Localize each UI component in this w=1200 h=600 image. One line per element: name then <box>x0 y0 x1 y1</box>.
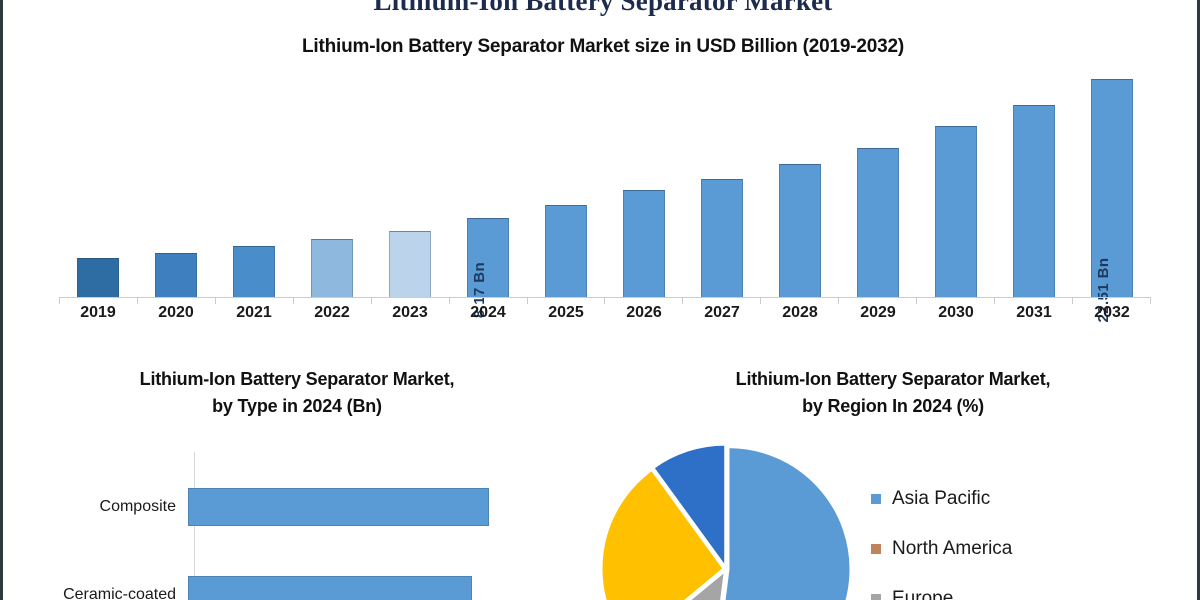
bar-2023[interactable] <box>389 231 431 298</box>
bar-slot <box>761 64 839 298</box>
year-label-2026: 2026 <box>605 304 683 322</box>
market-size-bar-chart: Lithium-Ion Battery Separator Market siz… <box>3 36 1200 336</box>
year-label-2028: 2028 <box>761 304 839 322</box>
bar-slot <box>917 64 995 298</box>
bar-2031[interactable] <box>1013 105 1055 298</box>
legend-label: Europe <box>892 588 953 600</box>
bar-2029[interactable] <box>857 148 899 298</box>
bar-slot <box>371 64 449 298</box>
type-row: Composite <box>3 488 563 526</box>
legend-label: Asia Pacific <box>892 488 990 510</box>
bar-2030[interactable] <box>935 126 977 298</box>
bar-slot <box>293 64 371 298</box>
bar-slot <box>137 64 215 298</box>
region-legend: Asia PacificNorth AmericaEurope <box>871 474 1171 600</box>
bar-slot <box>605 64 683 298</box>
year-label-2024: 2024 <box>449 304 527 322</box>
year-label-2022: 2022 <box>293 304 371 322</box>
legend-label: North America <box>892 538 1012 560</box>
year-label-2025: 2025 <box>527 304 605 322</box>
bar-2024[interactable]: 8.17 Bn <box>467 218 509 298</box>
bar-series: 8.17 Bn22.51 Bn <box>59 64 1151 298</box>
legend-item-europe[interactable]: Europe <box>871 574 1171 600</box>
bar-2027[interactable] <box>701 179 743 298</box>
bar-2021[interactable] <box>233 246 275 298</box>
bar-slot <box>59 64 137 298</box>
pie-svg <box>601 444 851 600</box>
bar-slot <box>527 64 605 298</box>
legend-item-asia-pacific[interactable]: Asia Pacific <box>871 474 1171 524</box>
by-region-pie-chart: Lithium-Ion Battery Separator Market, by… <box>583 366 1200 600</box>
bar-slot <box>839 64 917 298</box>
by-type-plot-area: CompositeCeramic-coated <box>3 452 563 600</box>
type-bar-track <box>188 488 563 526</box>
legend-swatch-icon <box>871 494 881 504</box>
bar-2032[interactable]: 22.51 Bn <box>1091 79 1133 298</box>
by-type-title-line2: by Type in 2024 (Bn) <box>31 393 563 420</box>
bar-chart-subtitle: Lithium-Ion Battery Separator Market siz… <box>3 36 1200 58</box>
type-row: Ceramic-coated <box>3 576 563 600</box>
year-label-2021: 2021 <box>215 304 293 322</box>
bar-slot: 22.51 Bn <box>1073 64 1151 298</box>
pie-slice-asia-pacific[interactable] <box>713 447 850 600</box>
by-region-title-line2: by Region In 2024 (%) <box>583 393 1200 420</box>
bar-slot: 8.17 Bn <box>449 64 527 298</box>
by-type-title: Lithium-Ion Battery Separator Market, by… <box>3 366 563 420</box>
legend-swatch-icon <box>871 544 881 554</box>
bar-2026[interactable] <box>623 190 665 298</box>
year-label-2031: 2031 <box>995 304 1073 322</box>
bar-2028[interactable] <box>779 164 821 298</box>
type-label-ceramic-coated: Ceramic-coated <box>3 586 188 600</box>
year-label-2020: 2020 <box>137 304 215 322</box>
by-region-title: Lithium-Ion Battery Separator Market, by… <box>583 366 1200 420</box>
type-bar-composite[interactable] <box>188 488 489 526</box>
bar-2025[interactable] <box>545 205 587 298</box>
type-label-composite: Composite <box>3 498 188 516</box>
x-axis-labels: 2019202020212022202320242025202620272028… <box>59 304 1151 322</box>
year-label-2027: 2027 <box>683 304 761 322</box>
by-type-bar-chart: Lithium-Ion Battery Separator Market, by… <box>3 366 563 600</box>
year-label-2030: 2030 <box>917 304 995 322</box>
type-bar-ceramic-coated[interactable] <box>188 576 472 600</box>
bar-slot <box>995 64 1073 298</box>
bar-chart-plot-area: 8.17 Bn22.51 Bn <box>59 64 1151 298</box>
pie-graphic <box>601 444 851 600</box>
legend-swatch-icon <box>871 594 881 600</box>
year-label-2019: 2019 <box>59 304 137 322</box>
bar-2022[interactable] <box>311 239 353 298</box>
year-label-2029: 2029 <box>839 304 917 322</box>
bar-slot <box>683 64 761 298</box>
infographic-root: Lithium-Ion Battery Separator Market Lit… <box>0 0 1200 600</box>
bar-2019[interactable] <box>77 258 119 298</box>
bar-2020[interactable] <box>155 253 197 298</box>
bar-slot <box>215 64 293 298</box>
page-title: Lithium-Ion Battery Separator Market <box>3 0 1200 17</box>
legend-item-north-america[interactable]: North America <box>871 524 1171 574</box>
by-region-title-line1: Lithium-Ion Battery Separator Market, <box>583 366 1200 393</box>
year-label-2023: 2023 <box>371 304 449 322</box>
type-bar-track <box>188 576 563 600</box>
year-label-2032: 2032 <box>1073 304 1151 322</box>
by-type-title-line1: Lithium-Ion Battery Separator Market, <box>31 366 563 393</box>
